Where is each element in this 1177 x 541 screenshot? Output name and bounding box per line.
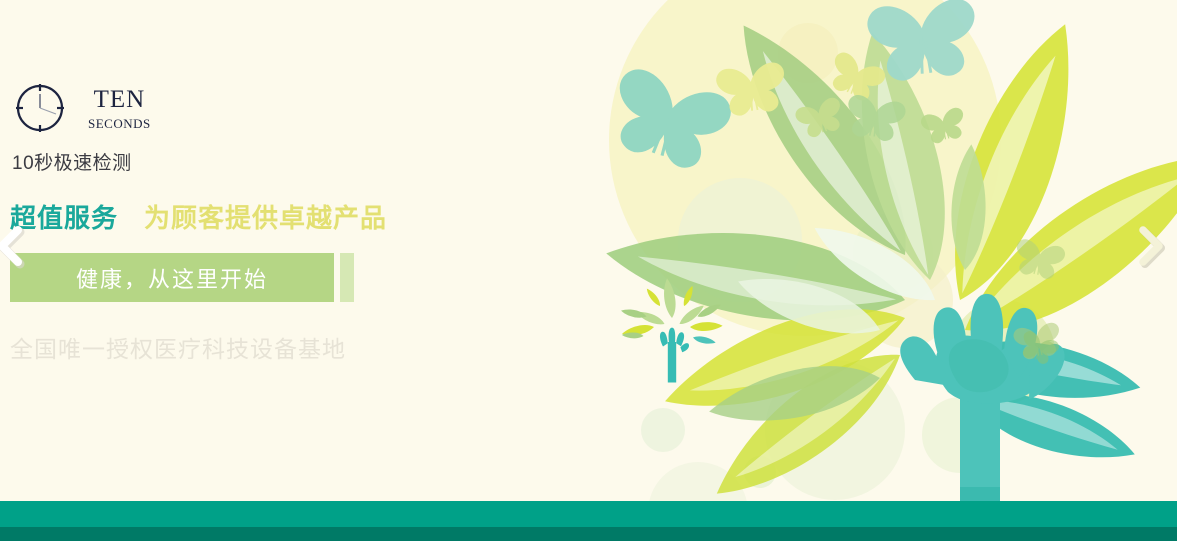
ten-seconds-badge: TEN SECONDS (14, 82, 151, 134)
headline-secondary: 为顾客提供卓越产品 (144, 203, 387, 233)
chevron-left-icon (0, 224, 28, 272)
headline: 超值服务为顾客提供卓越产品 (10, 198, 387, 235)
badge-title: TEN (88, 87, 151, 112)
cta-accent-bar (340, 253, 354, 302)
banner-content: TEN SECONDS 10秒极速检测 超值服务为顾客提供卓越产品 健康，从这里… (0, 0, 470, 541)
carousel-next-button[interactable] (1134, 222, 1168, 270)
start-health-button[interactable]: 健康，从这里开始 (10, 253, 334, 302)
promo-banner: TEN SECONDS 10秒极速检测 超值服务为顾客提供卓越产品 健康，从这里… (0, 0, 1177, 541)
carousel-prev-button[interactable] (0, 224, 28, 272)
badge-subtitle: SECONDS (88, 117, 151, 130)
footnote-text: 全国唯一授权医疗科技设备基地 (10, 330, 346, 364)
chevron-right-icon (1134, 222, 1168, 270)
cta-group: 健康，从这里开始 (10, 253, 354, 302)
badge-caption: 10秒极速检测 (12, 148, 132, 175)
clock-icon (14, 82, 66, 134)
